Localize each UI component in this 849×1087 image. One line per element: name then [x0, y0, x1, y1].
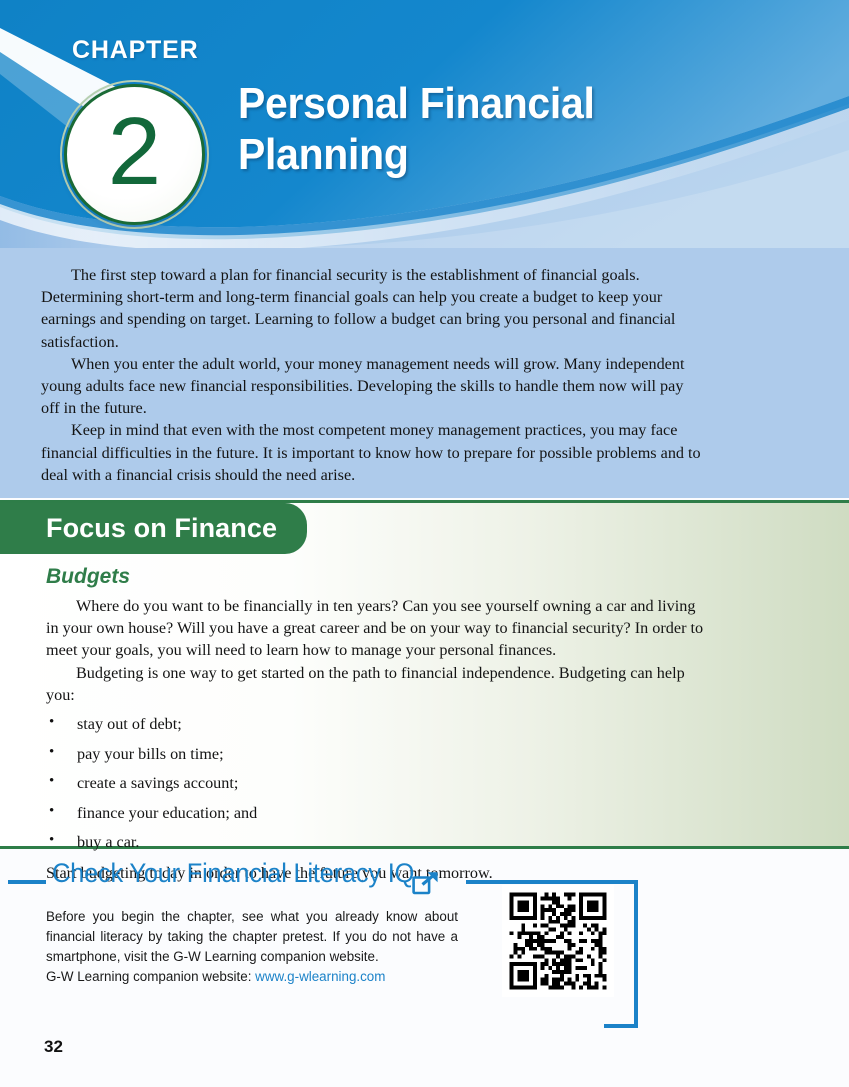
chapter-banner: CHAPTER 2 Personal Financial Planning [0, 0, 849, 248]
chapter-intro: The first step toward a plan for financi… [0, 248, 849, 498]
intro-paragraph: When you enter the adult world, your mon… [41, 353, 701, 420]
chapter-label: CHAPTER [72, 36, 198, 65]
literacy-iq-title: Check Your Financial Literacy IQ [52, 858, 414, 889]
literacy-iq-body: Before you begin the chapter, see what y… [46, 907, 458, 967]
list-item: finance your education; and [46, 803, 706, 824]
qr-code[interactable] [502, 885, 614, 997]
companion-website-label: G-W Learning companion website: [46, 969, 251, 984]
focus-on-finance-tab: Focus on Finance [0, 503, 307, 554]
companion-website-link[interactable]: www.g-wlearning.com [255, 969, 385, 984]
iq-rule-left [8, 880, 46, 884]
iq-rule-vertical [634, 880, 638, 1028]
companion-website-line: G-W Learning companion website: www.g-wl… [46, 969, 385, 984]
fof-paragraph: Where do you want to be financially in t… [46, 595, 706, 662]
list-item: pay your bills on time; [46, 744, 706, 765]
chapter-number: 2 [64, 84, 205, 225]
chapter-number-badge: 2 [56, 76, 213, 233]
page-number: 32 [44, 1037, 63, 1057]
literacy-iq-section: Check Your Financial Literacy IQ Before … [0, 857, 849, 1037]
intro-paragraph: Keep in mind that even with the most com… [41, 419, 701, 486]
iq-rule-right [466, 880, 638, 884]
external-link-icon[interactable] [412, 871, 442, 900]
focus-on-finance-section: Focus on Finance Budgets Where do you wa… [0, 500, 849, 849]
list-item: stay out of debt; [46, 714, 706, 735]
fof-paragraph: Budgeting is one way to get started on t… [46, 662, 706, 706]
list-item: create a savings account; [46, 773, 706, 794]
fof-bullet-list: stay out of debt; pay your bills on time… [46, 714, 706, 853]
intro-paragraph: The first step toward a plan for financi… [41, 264, 701, 353]
page-title: Personal Financial Planning [238, 78, 675, 181]
focus-on-finance-subhead: Budgets [46, 565, 130, 589]
list-item: buy a car. [46, 832, 706, 853]
iq-rule-bottom [604, 1024, 638, 1028]
